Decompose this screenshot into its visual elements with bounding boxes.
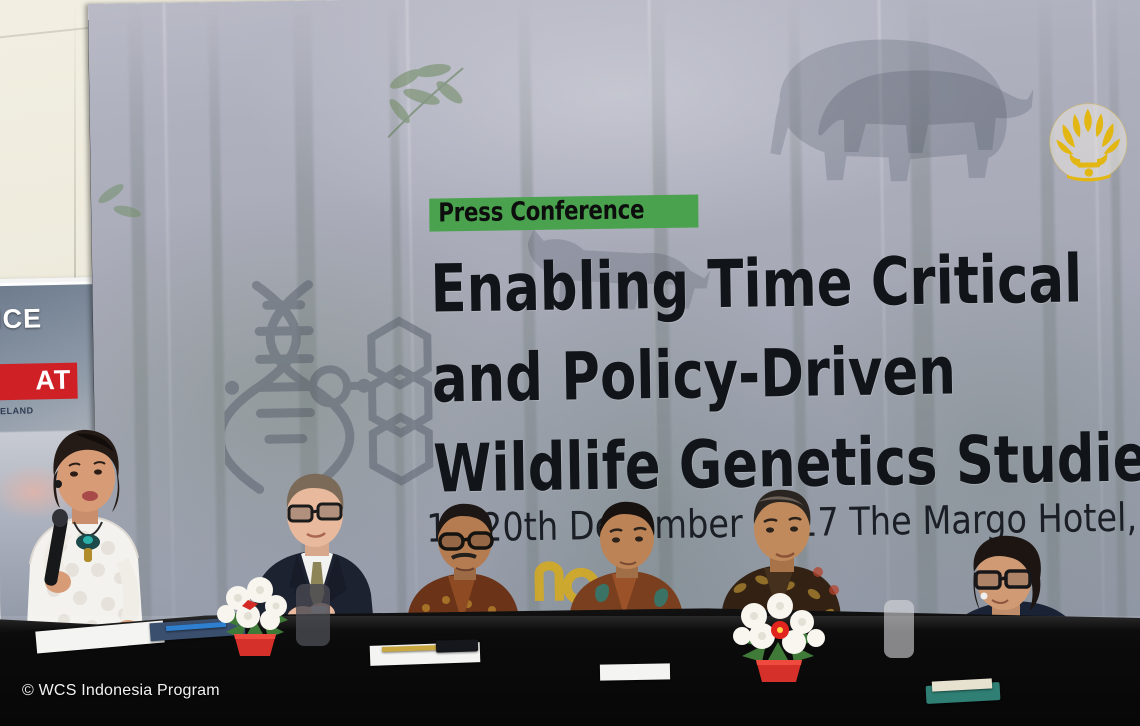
poster-badge-text: AT <box>35 365 72 397</box>
press-conference-label: Press Conference <box>438 197 644 228</box>
banner-title-line-2: and Policy-Driven <box>431 338 956 412</box>
leaf-cluster <box>375 52 486 144</box>
flower-arrangement-right <box>730 582 826 682</box>
papers <box>600 663 670 680</box>
leaf-cluster <box>93 173 164 244</box>
flower-arrangement-left <box>212 562 298 658</box>
standing-speaker <box>16 418 156 648</box>
banner-title-line-1: Enabling Time Critical <box>430 246 1083 322</box>
chair-back <box>884 600 914 658</box>
flowers-red-pot <box>730 582 826 682</box>
press-conference-badge: Press Conference <box>429 194 698 232</box>
chair-back <box>296 584 330 646</box>
poster-headline-fragment: NCE <box>0 303 42 335</box>
speaker-figure <box>16 418 156 648</box>
flowers-red-pot <box>212 562 298 658</box>
poster-red-badge: AT <box>0 363 78 401</box>
photograph: NCE AT IRELAND <box>0 0 1140 726</box>
poster-subtext-fragment: IRELAND <box>0 405 34 416</box>
universitas-indonesia-makara-logo <box>1046 100 1131 185</box>
photo-credit-caption: © WCS Indonesia Program <box>22 682 220 700</box>
elephant-silhouette <box>749 27 1031 191</box>
mobile-phone <box>436 639 478 652</box>
